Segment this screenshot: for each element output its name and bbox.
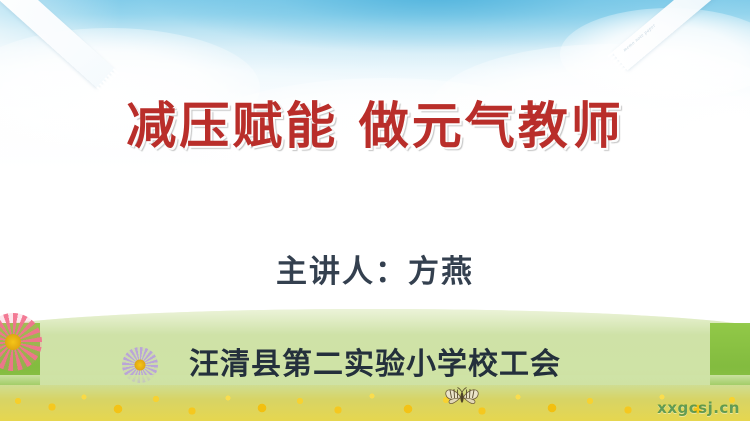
yellow-flower-field [0, 385, 750, 421]
presenter-line: 主讲人：方燕 [0, 252, 750, 292]
butterfly-icon [442, 385, 482, 409]
grass-highlight [0, 309, 750, 335]
slide-title: 减压赋能 做元气教师 [0, 96, 750, 156]
watermark-text: xxgcsj.cn [657, 399, 740, 417]
organization-line: 汪清县第二实验小学校工会 [0, 345, 750, 385]
presentation-title-slide: memo note paper 减压赋能 做元气教师 主讲人：方燕 [0, 0, 750, 421]
